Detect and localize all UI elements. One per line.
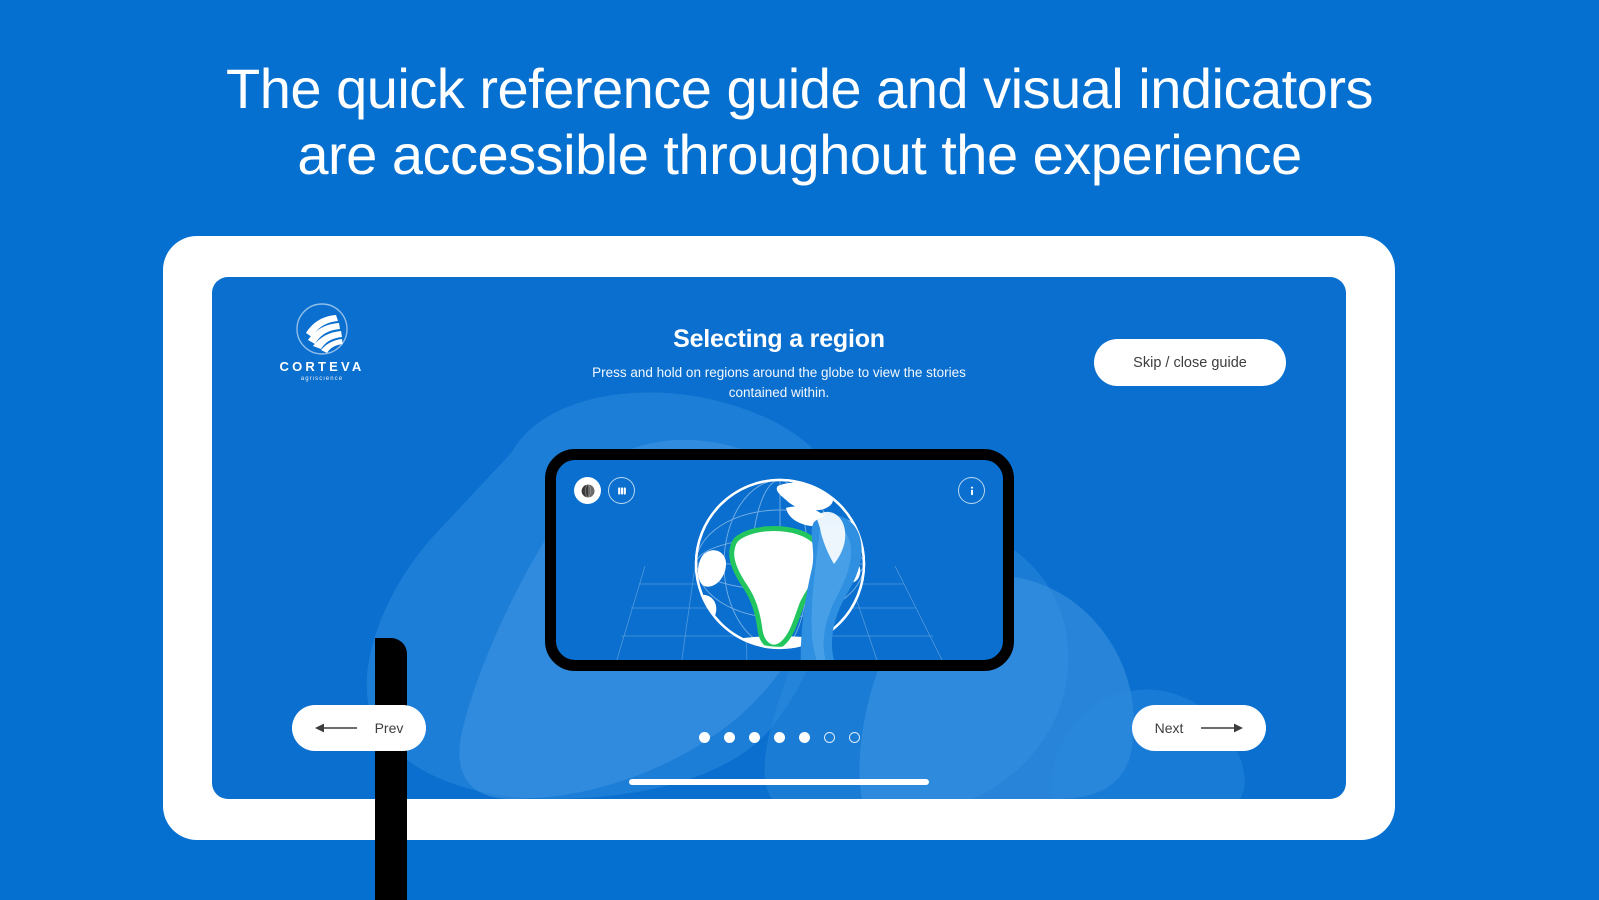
phone-screen <box>556 460 1003 660</box>
pagination-dot[interactable] <box>724 732 735 743</box>
tablet-device-frame: CORTEVA agriscience Selecting a region P… <box>163 236 1395 840</box>
pagination-dot[interactable] <box>799 732 810 743</box>
pagination-dot[interactable] <box>774 732 785 743</box>
pagination-dot[interactable] <box>749 732 760 743</box>
grid-view-icon[interactable] <box>608 477 635 504</box>
globe-graphic[interactable] <box>682 466 878 660</box>
skip-close-guide-button[interactable]: Skip / close guide <box>1094 339 1286 386</box>
headline-line-2: are accessible throughout the experience <box>90 122 1509 188</box>
tablet-screen: CORTEVA agriscience Selecting a region P… <box>212 277 1346 799</box>
headline-line-1: The quick reference guide and visual ind… <box>226 57 1373 120</box>
next-button[interactable]: Next <box>1132 705 1266 751</box>
guide-subtitle: Press and hold on regions around the glo… <box>579 363 979 402</box>
prev-button[interactable]: Prev <box>292 705 426 751</box>
pagination-dot[interactable] <box>699 732 710 743</box>
slide-headline: The quick reference guide and visual ind… <box>0 56 1599 188</box>
tablet-side-button[interactable] <box>375 638 407 900</box>
home-indicator-bar <box>629 779 929 785</box>
next-label: Next <box>1155 720 1184 736</box>
globe-toggle-icon[interactable] <box>574 477 601 504</box>
pagination-dot[interactable] <box>824 732 835 743</box>
phone-mockup <box>545 449 1014 671</box>
arrow-right-icon <box>1199 722 1243 734</box>
info-icon[interactable] <box>958 477 985 504</box>
pagination-dot[interactable] <box>849 732 860 743</box>
